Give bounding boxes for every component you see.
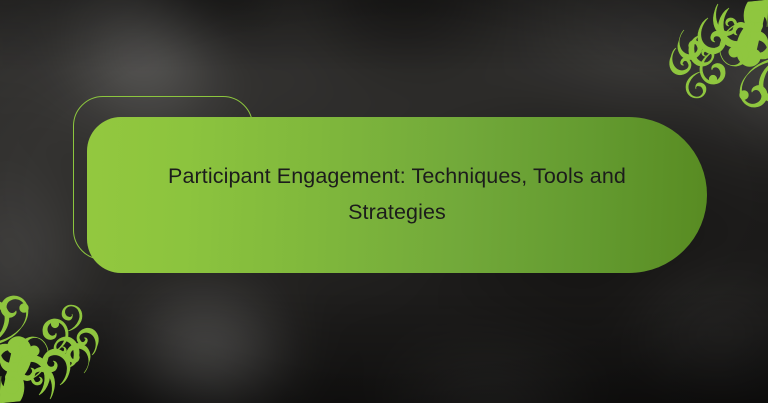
banner-title: Participant Engagement: Techniques, Tool… (147, 158, 647, 232)
title-plate: Participant Engagement: Techniques, Tool… (87, 117, 707, 273)
banner-card: Participant Engagement: Techniques, Tool… (0, 0, 768, 403)
